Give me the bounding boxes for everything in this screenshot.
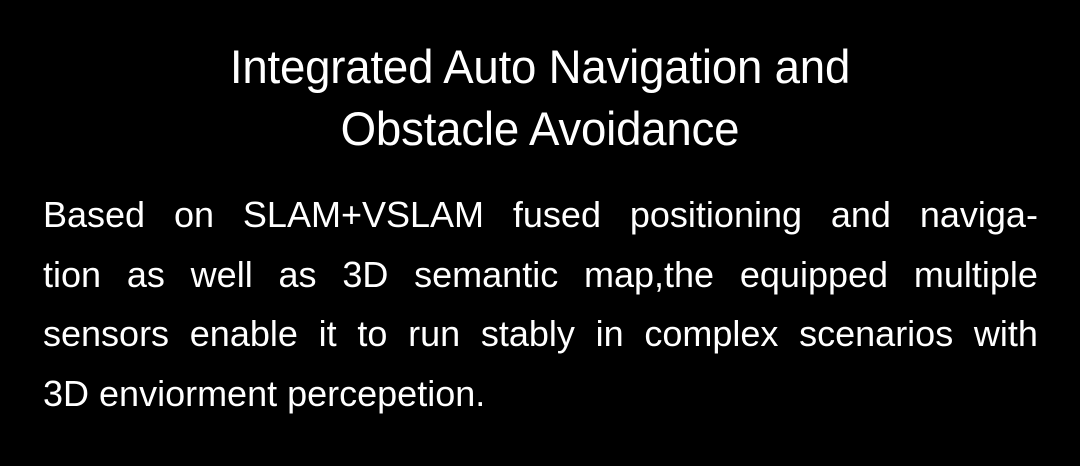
title-line-1: Integrated Auto Navigation and	[16, 36, 1064, 98]
body-word: it	[319, 304, 337, 364]
slide-canvas: Integrated Auto Navigation and Obstacle …	[0, 0, 1080, 466]
body-word: with	[974, 304, 1038, 364]
body-word: Based	[43, 185, 145, 245]
body-word: to	[357, 304, 387, 364]
slide-body-paragraph: Based on SLAM+VSLAM fused positioning an…	[43, 185, 1038, 423]
body-word: SLAM+VSLAM	[243, 185, 484, 245]
body-word: positioning	[630, 185, 802, 245]
body-word: tion	[43, 245, 101, 305]
body-word: multiple	[914, 245, 1038, 305]
body-word: well	[191, 245, 253, 305]
body-word: complex	[644, 304, 778, 364]
body-word: run	[408, 304, 460, 364]
body-word: as	[278, 245, 316, 305]
body-word: stably	[481, 304, 575, 364]
body-line-2: tion as well as 3D semantic map,the equi…	[43, 245, 1038, 305]
body-word: equipped	[740, 245, 888, 305]
body-word: naviga-	[920, 185, 1038, 245]
body-word: on	[174, 185, 214, 245]
body-word: fused	[513, 185, 601, 245]
body-word: scenarios	[799, 304, 953, 364]
slide-title: Integrated Auto Navigation and Obstacle …	[0, 36, 1080, 160]
title-line-2: Obstacle Avoidance	[16, 98, 1064, 160]
body-word: in	[596, 304, 624, 364]
body-word: as	[127, 245, 165, 305]
body-word: 3D	[342, 245, 388, 305]
body-line-1: Based on SLAM+VSLAM fused positioning an…	[43, 185, 1038, 245]
body-line-4: 3D enviorment percepetion.	[43, 364, 1038, 424]
body-word: map,the	[584, 245, 714, 305]
body-word: and	[831, 185, 891, 245]
body-word: enable	[190, 304, 298, 364]
body-line-3: sensors enable it to run stably in compl…	[43, 304, 1038, 364]
body-word: sensors	[43, 304, 169, 364]
body-word: semantic	[414, 245, 558, 305]
